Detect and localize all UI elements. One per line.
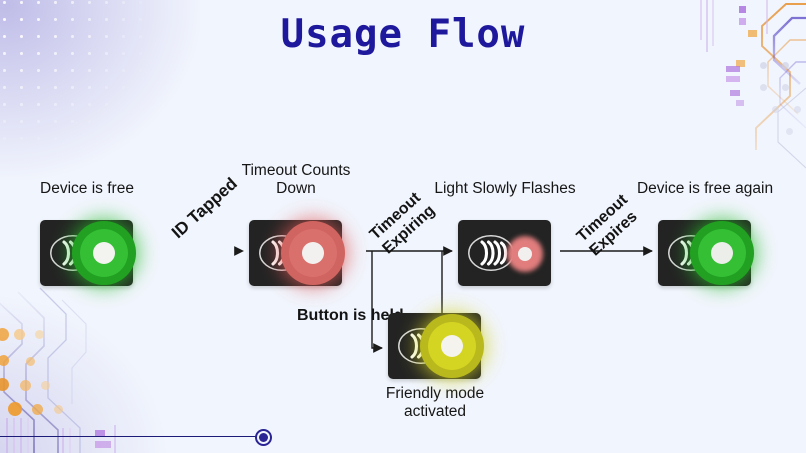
- led-indicator-yellow: [411, 305, 493, 387]
- slide-canvas: Usage Flow Device is free: [0, 0, 806, 453]
- device-body: [249, 220, 342, 286]
- node-caption: Device is free again: [630, 180, 780, 198]
- node-caption: Light Slowly Flashes: [430, 180, 580, 198]
- node-caption: Device is free: [12, 180, 162, 198]
- led-indicator-green: [63, 212, 145, 294]
- device-body: [658, 220, 751, 286]
- led-indicator-red: [272, 212, 354, 294]
- device-body: [40, 220, 133, 286]
- node-caption: Timeout Counts Down: [221, 162, 371, 197]
- bottom-accent-line: [0, 436, 263, 437]
- device-body: [388, 313, 481, 379]
- led-indicator-green: [681, 212, 763, 294]
- node-caption: Friendly mode activated: [360, 385, 510, 420]
- circuit-node-dot-core-icon: [259, 433, 268, 442]
- device-body: [458, 220, 551, 286]
- led-indicator-flashing-red: [507, 236, 543, 272]
